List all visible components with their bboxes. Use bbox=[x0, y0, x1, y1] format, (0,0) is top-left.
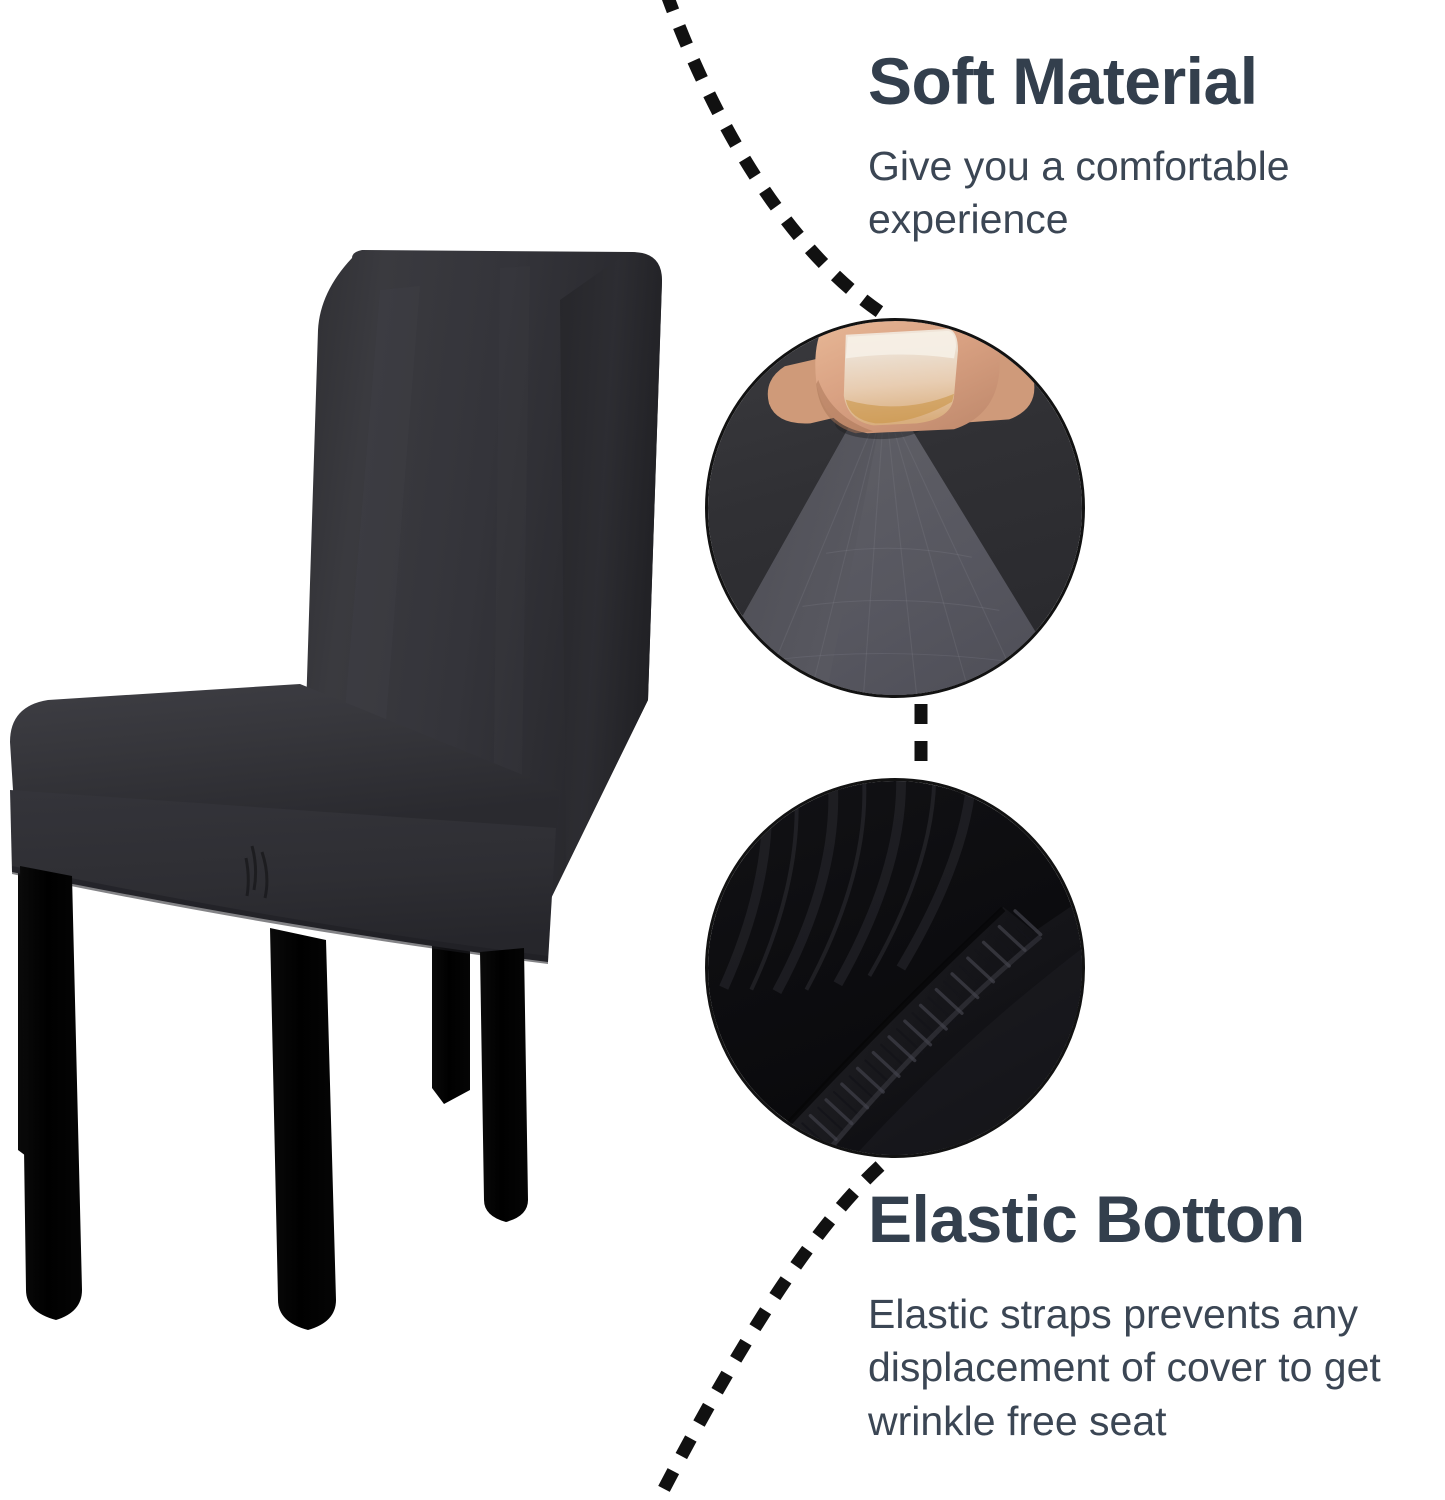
dining-chair-slipcover-icon bbox=[0, 0, 700, 1400]
feature-description-elastic-botton: Elastic straps prevents any displacement… bbox=[868, 1288, 1428, 1448]
feature-title-elastic-botton: Elastic Botton bbox=[868, 1186, 1428, 1252]
feature-block-soft-material: Soft Material Give you a comfortable exp… bbox=[868, 48, 1428, 247]
feature-title-soft-material: Soft Material bbox=[868, 48, 1428, 114]
feature-description-soft-material: Give you a comfortable experience bbox=[868, 140, 1428, 247]
inset-soft-material-photo bbox=[705, 318, 1085, 698]
inset-elastic-botton-photo bbox=[705, 778, 1085, 1158]
elastic-hem-photo-icon bbox=[708, 781, 1082, 1155]
product-chair-image bbox=[0, 0, 700, 1400]
infographic-page: Soft Material Give you a comfortable exp… bbox=[0, 0, 1445, 1500]
feature-block-elastic-botton: Elastic Botton Elastic straps prevents a… bbox=[868, 1186, 1428, 1448]
fabric-pinch-photo-icon bbox=[708, 321, 1082, 695]
